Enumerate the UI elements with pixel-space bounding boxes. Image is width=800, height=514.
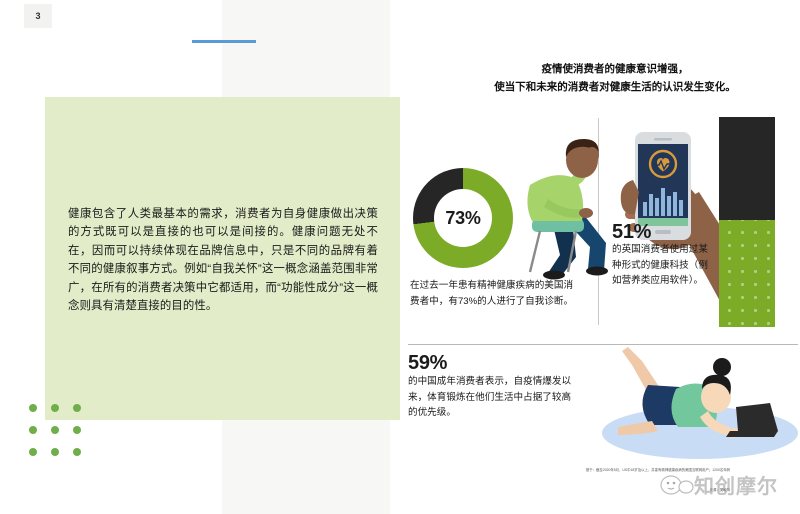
infographic-heading: 疫情使消费者的健康意识增强， 使当下和未来的消费者对健康生活的认识发生变化。 — [430, 60, 800, 97]
stat-value-59: 59% — [408, 352, 447, 375]
watermark-text: 知创摩尔 — [694, 470, 778, 499]
watermark-mascot-icon — [660, 471, 694, 497]
infographic-heading-line1: 疫情使消费者的健康意识增强， — [430, 60, 800, 78]
dot — [73, 448, 81, 456]
stat-caption-73: 在过去一年患有精神健康疾病的美国消费者中，有73%的人进行了自我诊断。 — [410, 278, 575, 309]
left-body-text: 健康包含了人类最基本的需求，消费者为自身健康做出决策的方式既可以是直接的也可以是… — [68, 205, 378, 316]
vertical-bar-graphic — [719, 117, 775, 327]
stat-value-51: 51% — [612, 221, 651, 244]
vertical-bar-dot-pattern — [719, 220, 775, 327]
donut-center: 73% — [434, 189, 492, 247]
vertical-bar-dark-segment — [719, 117, 775, 220]
watermark: 知创摩尔 — [660, 462, 800, 506]
stat-caption-59: 的中国成年消费者表示，自疫情爆发以来，体育锻炼在他们生活中占据了较高的优先级。 — [408, 374, 573, 421]
stat-caption-51: 的英国消费者使用过某种形式的健康科技（例如营养类应用软件）。 — [612, 242, 717, 289]
dot — [51, 404, 59, 412]
dot — [29, 448, 37, 456]
page-root: 3 健康包含了人类最基本的需求，消费者为自身健康做出决策的方式既可以是直接的也可… — [0, 0, 800, 514]
yoga-with-laptop-illustration — [588, 345, 798, 465]
infographic-heading-line2: 使当下和未来的消费者对健康生活的认识发生变化。 — [430, 78, 800, 96]
dot-grid-decoration — [29, 404, 91, 456]
dot — [73, 404, 81, 412]
dot — [51, 448, 59, 456]
dot — [73, 426, 81, 434]
accent-rule — [192, 40, 256, 43]
dot — [29, 426, 37, 434]
page-number: 3 — [24, 4, 52, 28]
donut-value-label: 73% — [445, 208, 480, 229]
dot — [51, 426, 59, 434]
seated-person-illustration — [490, 135, 620, 285]
dot — [29, 404, 37, 412]
